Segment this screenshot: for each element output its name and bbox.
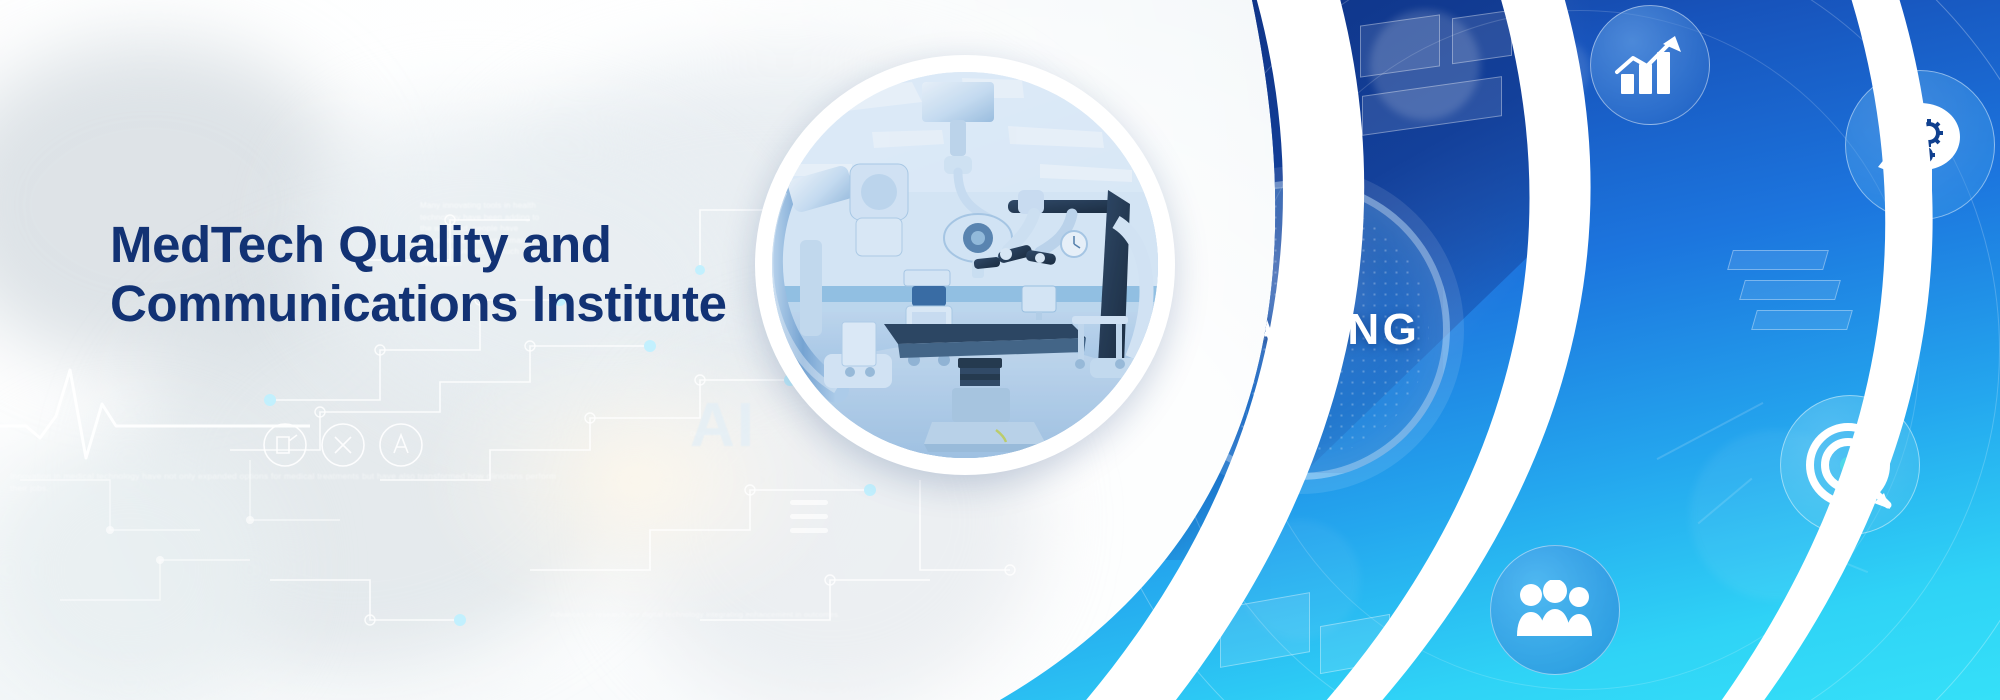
lens-flare <box>1240 520 1360 640</box>
hud-panel <box>1739 280 1841 300</box>
hero-banner: Many innovating tools in health technolo… <box>0 0 2000 700</box>
bar-chart-growth-icon <box>1590 5 1710 125</box>
operating-room-photo <box>755 55 1175 475</box>
head-gears-icon <box>1845 70 1995 220</box>
hud-panel <box>1727 250 1829 270</box>
watermark-paragraph-b: Innovation in medical technology have no… <box>10 470 570 495</box>
hud-panel <box>1751 310 1853 330</box>
mini-line-icons <box>255 415 495 475</box>
lens-flare <box>1370 10 1480 120</box>
photo-clip <box>772 72 1158 458</box>
title-line-2: Communications Institute <box>110 274 727 333</box>
page-title: MedTech Quality and Communications Insti… <box>110 215 727 333</box>
people-group-icon <box>1490 545 1620 675</box>
title-line-1: MedTech Quality and <box>110 215 727 274</box>
watermark-paragraph-c: Advances in research are digital technol… <box>550 610 850 621</box>
target-arrow-icon <box>1780 395 1920 535</box>
ai-watermark-label: AI <box>690 390 756 461</box>
lens-flare <box>1530 40 1590 100</box>
